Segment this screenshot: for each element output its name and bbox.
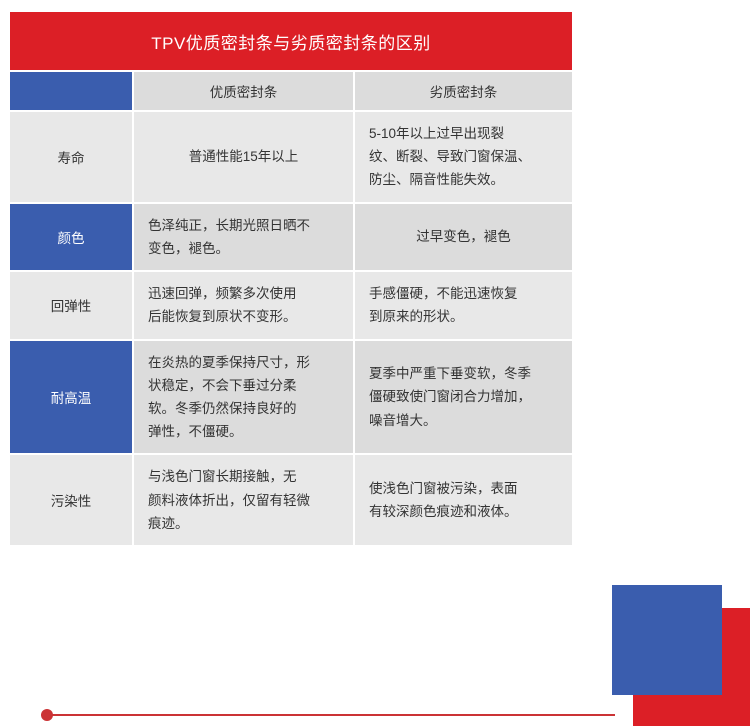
column-header-good: 优质密封条	[134, 72, 353, 110]
page-title: TPV优质密封条与劣质密封条的区别	[10, 12, 572, 70]
title-row: TPV优质密封条与劣质密封条的区别	[10, 12, 572, 70]
cell-bad-4: 使浅色门窗被污染，表面有较深颜色痕迹和液体。	[355, 455, 572, 545]
bullet-dot-decoration	[41, 709, 53, 721]
table-row: 耐高温在炎热的夏季保持尺寸，形状稳定，不会下垂过分柔软。冬季仍然保持良好的弹性，…	[10, 341, 572, 454]
blue-square-decoration	[612, 585, 722, 695]
cell-text-line: 普通性能15年以上	[148, 145, 339, 168]
table-row: 寿命普通性能15年以上5-10年以上过早出现裂纹、断裂、导致门窗保温、防尘、隔音…	[10, 112, 572, 202]
cell-text-line: 色泽纯正，长期光照日晒不	[148, 214, 339, 237]
cell-text-line: 痕迹。	[148, 512, 339, 535]
table-body: TPV优质密封条与劣质密封条的区别 优质密封条 劣质密封条 寿命普通性能15年以…	[10, 12, 572, 545]
cell-text-line: 5-10年以上过早出现裂	[369, 122, 558, 145]
table-row: 污染性与浅色门窗长期接触，无颜料液体折出，仅留有轻微痕迹。使浅色门窗被污染，表面…	[10, 455, 572, 545]
cell-text-line: 手感僵硬，不能迅速恢复	[369, 282, 558, 305]
cell-good-0: 普通性能15年以上	[134, 112, 353, 202]
row-label-4: 污染性	[10, 455, 132, 545]
cell-text-line: 使浅色门窗被污染，表面	[369, 477, 558, 500]
column-header-bad: 劣质密封条	[355, 72, 572, 110]
cell-bad-2: 手感僵硬，不能迅速恢复到原来的形状。	[355, 272, 572, 338]
cell-text-line: 夏季中严重下垂变软，冬季	[369, 362, 558, 385]
cell-good-1: 色泽纯正，长期光照日晒不变色，褪色。	[134, 204, 353, 270]
cell-text-line: 软。冬季仍然保持良好的	[148, 397, 339, 420]
cell-good-4: 与浅色门窗长期接触，无颜料液体折出，仅留有轻微痕迹。	[134, 455, 353, 545]
cell-text-line: 弹性，不僵硬。	[148, 420, 339, 443]
horizontal-rule-decoration	[47, 714, 615, 716]
cell-text-line: 颜料液体折出，仅留有轻微	[148, 489, 339, 512]
cell-good-3: 在炎热的夏季保持尺寸，形状稳定，不会下垂过分柔软。冬季仍然保持良好的弹性，不僵硬…	[134, 341, 353, 454]
table-row: 颜色色泽纯正，长期光照日晒不变色，褪色。过早变色，褪色	[10, 204, 572, 270]
cell-text-line: 迅速回弹，频繁多次使用	[148, 282, 339, 305]
cell-good-2: 迅速回弹，频繁多次使用后能恢复到原状不变形。	[134, 272, 353, 338]
row-label-1: 颜色	[10, 204, 132, 270]
cell-text-line: 变色，褪色。	[148, 237, 339, 260]
cell-bad-3: 夏季中严重下垂变软，冬季僵硬致使门窗闭合力增加，噪音增大。	[355, 341, 572, 454]
cell-text-line: 有较深颜色痕迹和液体。	[369, 500, 558, 523]
cell-text-line: 纹、断裂、导致门窗保温、	[369, 145, 558, 168]
table-row: 回弹性迅速回弹，频繁多次使用后能恢复到原状不变形。手感僵硬，不能迅速恢复到原来的…	[10, 272, 572, 338]
cell-text-line: 过早变色，褪色	[369, 225, 558, 248]
cell-text-line: 防尘、隔音性能失效。	[369, 168, 558, 191]
cell-text-line: 与浅色门窗长期接触，无	[148, 465, 339, 488]
cell-text-line: 在炎热的夏季保持尺寸，形	[148, 351, 339, 374]
row-label-0: 寿命	[10, 112, 132, 202]
cell-text-line: 噪音增大。	[369, 409, 558, 432]
row-label-2: 回弹性	[10, 272, 132, 338]
cell-bad-0: 5-10年以上过早出现裂纹、断裂、导致门窗保温、防尘、隔音性能失效。	[355, 112, 572, 202]
cell-text-line: 后能恢复到原状不变形。	[148, 305, 339, 328]
header-corner-blank	[10, 72, 132, 110]
cell-text-line: 僵硬致使门窗闭合力增加，	[369, 385, 558, 408]
cell-bad-1: 过早变色，褪色	[355, 204, 572, 270]
comparison-table: TPV优质密封条与劣质密封条的区别 优质密封条 劣质密封条 寿命普通性能15年以…	[8, 10, 574, 547]
comparison-table-container: TPV优质密封条与劣质密封条的区别 优质密封条 劣质密封条 寿命普通性能15年以…	[8, 10, 572, 547]
row-label-3: 耐高温	[10, 341, 132, 454]
cell-text-line: 到原来的形状。	[369, 305, 558, 328]
table-header-row: 优质密封条 劣质密封条	[10, 72, 572, 110]
cell-text-line: 状稳定，不会下垂过分柔	[148, 374, 339, 397]
